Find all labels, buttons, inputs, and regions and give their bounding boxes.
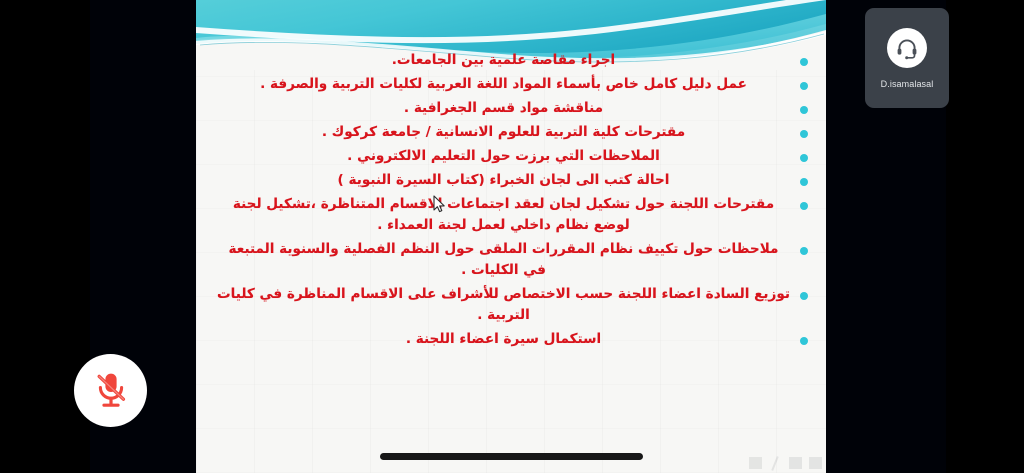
- mute-button[interactable]: [74, 354, 147, 427]
- bullet-text: الملاحظات التي برزت حول التعليم الالكترو…: [216, 146, 791, 167]
- bullet-dot-icon: [800, 202, 808, 210]
- bullet-dot-icon: [800, 82, 808, 90]
- bullet-dot-icon: [800, 292, 808, 300]
- microphone-muted-icon: [93, 371, 129, 411]
- slide-progress-bar[interactable]: [380, 453, 643, 460]
- bullet-text: اجراء مقاصة علمية بين الجامعات.: [216, 50, 791, 71]
- bullet-dot-icon: [800, 130, 808, 138]
- list-item: اجراء مقاصة علمية بين الجامعات.: [216, 50, 808, 71]
- pen-icon[interactable]: [769, 457, 782, 469]
- bullet-dot-icon: [800, 154, 808, 162]
- list-item: مقترحات اللجنة حول تشكيل لجان لعقد اجتما…: [216, 194, 808, 236]
- participant-tile[interactable]: D.isamalasal: [865, 8, 949, 108]
- bullet-dot-icon: [800, 247, 808, 255]
- list-item: احالة كتب الى لجان الخبراء (كتاب السيرة …: [216, 170, 808, 191]
- bullet-text: مناقشة مواد قسم الجغرافية .: [216, 98, 791, 119]
- slide-ghost-toolbar[interactable]: [749, 457, 822, 469]
- bullet-dot-icon: [800, 106, 808, 114]
- exit-icon[interactable]: [809, 457, 822, 469]
- bullet-text: احالة كتب الى لجان الخبراء (كتاب السيرة …: [216, 170, 791, 191]
- bullet-text: استكمال سيرة اعضاء اللجنة .: [216, 329, 791, 350]
- bullet-text: عمل دليل كامل خاص بأسماء المواد اللغة ال…: [216, 74, 791, 95]
- bullet-text: توزيع السادة اعضاء اللجنة حسب الاختصاص ل…: [216, 284, 791, 326]
- list-item: توزيع السادة اعضاء اللجنة حسب الاختصاص ل…: [216, 284, 808, 326]
- slide-bullet-list: اجراء مقاصة علمية بين الجامعات. عمل دليل…: [196, 50, 826, 353]
- headset-icon: [895, 36, 919, 60]
- list-item: مناقشة مواد قسم الجغرافية .: [216, 98, 808, 119]
- video-conference-screen: اجراء مقاصة علمية بين الجامعات. عمل دليل…: [0, 0, 1024, 473]
- participant-name: D.isamalasal: [881, 79, 934, 89]
- shared-slide[interactable]: اجراء مقاصة علمية بين الجامعات. عمل دليل…: [196, 0, 826, 473]
- screen-icon[interactable]: [789, 457, 802, 469]
- bullet-text: مقترحات كلية التربية للعلوم الانسانية / …: [216, 122, 791, 143]
- avatar: [887, 28, 927, 68]
- bullet-dot-icon: [800, 337, 808, 345]
- list-item: الملاحظات التي برزت حول التعليم الالكترو…: [216, 146, 808, 167]
- bullet-dot-icon: [800, 58, 808, 66]
- list-item: استكمال سيرة اعضاء اللجنة .: [216, 329, 808, 350]
- list-item: عمل دليل كامل خاص بأسماء المواد اللغة ال…: [216, 74, 808, 95]
- bullet-text: ملاحظات حول تكييف نظام المقررات الملقى ح…: [216, 239, 791, 281]
- bullet-text: مقترحات اللجنة حول تشكيل لجان لعقد اجتما…: [216, 194, 791, 236]
- list-item: ملاحظات حول تكييف نظام المقررات الملقى ح…: [216, 239, 808, 281]
- presenter-view-icon[interactable]: [749, 457, 762, 469]
- bullet-dot-icon: [800, 178, 808, 186]
- list-item: مقترحات كلية التربية للعلوم الانسانية / …: [216, 122, 808, 143]
